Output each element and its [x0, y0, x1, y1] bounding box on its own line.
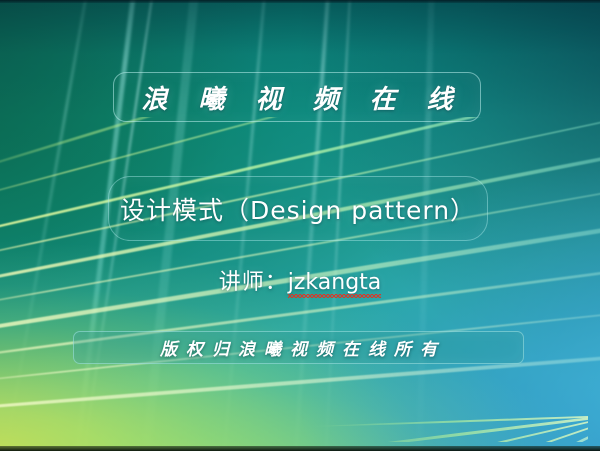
course-subject-text: 设计模式（Design pattern）	[120, 191, 476, 227]
copyright-panel: 版权归浪曦视频在线所有	[73, 331, 524, 364]
presentation-slide: 浪 曦 视 频 在 线 设计模式（Design pattern） 讲师：jzka…	[0, 0, 600, 451]
site-title-panel: 浪 曦 视 频 在 线	[113, 72, 481, 122]
course-subject-panel: 设计模式（Design pattern）	[108, 176, 488, 241]
instructor-name: jzkangta	[288, 270, 382, 297]
instructor-label: 讲师：	[219, 270, 288, 295]
instructor-line: 讲师：jzkangta	[0, 264, 600, 297]
slide-content: 浪 曦 视 频 在 线 设计模式（Design pattern） 讲师：jzka…	[0, 0, 600, 451]
copyright-text: 版权归浪曦视频在线所有	[151, 335, 446, 360]
site-title-text: 浪 曦 视 频 在 线	[130, 79, 463, 116]
